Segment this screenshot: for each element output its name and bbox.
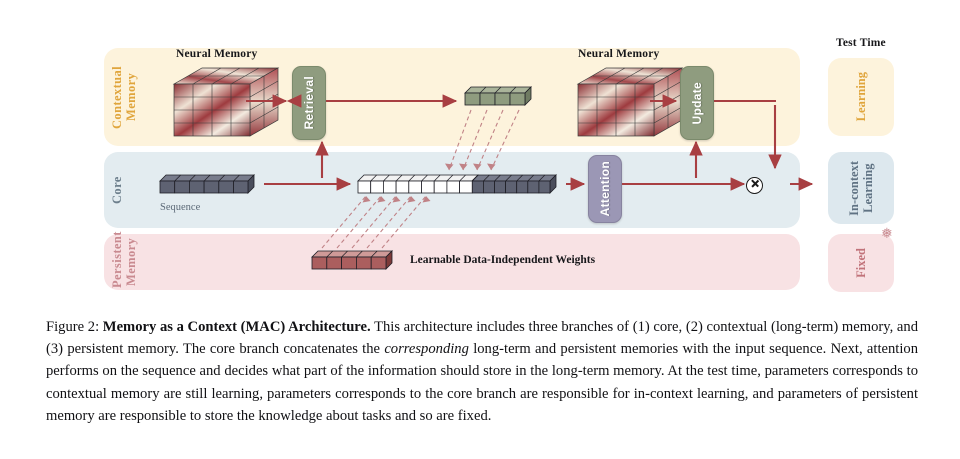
- tensor-product-icon: [746, 177, 763, 194]
- caption-title: Memory as a Context (MAC) Architecture.: [103, 319, 371, 335]
- figure-diagram: Contextual Memory Core Persistent Memory…: [0, 0, 960, 300]
- status-chip-fixed-label: Fixed: [854, 248, 868, 278]
- solid-flow-arrows: [0, 0, 960, 300]
- status-chip-in-context-learning-label: In-context Learning: [847, 161, 875, 216]
- figure-caption: Figure 2: Memory as a Context (MAC) Arch…: [46, 316, 918, 427]
- caption-figure-number: Figure 2:: [46, 319, 99, 335]
- caption-emphasis: corresponding: [384, 341, 469, 357]
- snowflake-icon: ❅: [881, 228, 893, 242]
- status-chip-fixed: Fixed: [828, 234, 894, 292]
- status-chip-learning: Learning: [828, 58, 894, 136]
- status-chip-learning-label: Learning: [854, 72, 868, 121]
- status-chip-in-context-learning: In-context Learning: [828, 152, 894, 224]
